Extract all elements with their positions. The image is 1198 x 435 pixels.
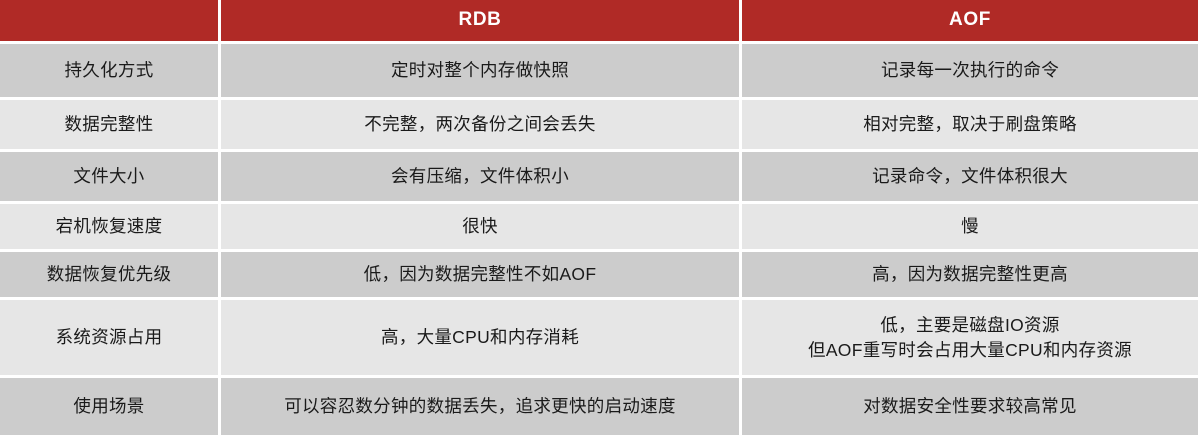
row-rdb-value: 低，因为数据完整性不如AOF (221, 252, 742, 297)
row-feature-label: 系统资源占用 (0, 300, 221, 375)
row-feature-label: 数据完整性 (0, 100, 221, 149)
rdb-aof-comparison-table: RDB AOF 持久化方式 定时对整个内存做快照 记录每一次执行的命令 数据完整… (0, 0, 1198, 435)
table-row: 使用场景 可以容忍数分钟的数据丢失，追求更快的启动速度 对数据安全性要求较高常见 (0, 378, 1198, 435)
row-aof-value: 相对完整，取决于刷盘策略 (742, 100, 1198, 149)
row-rdb-value: 可以容忍数分钟的数据丢失，追求更快的启动速度 (221, 378, 742, 435)
row-aof-value-line-2: 但AOF重写时会占用大量CPU和内存资源 (808, 338, 1132, 363)
row-rdb-value: 高，大量CPU和内存消耗 (221, 300, 742, 375)
row-aof-value-line-1: 低，主要是磁盘IO资源 (880, 313, 1059, 338)
header-cell-aof: AOF (742, 0, 1198, 41)
table-row: 持久化方式 定时对整个内存做快照 记录每一次执行的命令 (0, 44, 1198, 100)
row-rdb-value: 定时对整个内存做快照 (221, 44, 742, 97)
table-row: 宕机恢复速度 很快 慢 (0, 204, 1198, 252)
table-row: 文件大小 会有压缩，文件体积小 记录命令，文件体积很大 (0, 152, 1198, 204)
header-cell-rdb: RDB (221, 0, 742, 41)
row-rdb-value: 会有压缩，文件体积小 (221, 152, 742, 201)
table-row: 数据恢复优先级 低，因为数据完整性不如AOF 高，因为数据完整性更高 (0, 252, 1198, 300)
row-aof-value: 低，主要是磁盘IO资源 但AOF重写时会占用大量CPU和内存资源 (742, 300, 1198, 375)
row-feature-label: 使用场景 (0, 378, 221, 435)
row-feature-label: 数据恢复优先级 (0, 252, 221, 297)
row-aof-value: 记录命令，文件体积很大 (742, 152, 1198, 201)
row-aof-value: 高，因为数据完整性更高 (742, 252, 1198, 297)
table-row: 数据完整性 不完整，两次备份之间会丢失 相对完整，取决于刷盘策略 (0, 100, 1198, 152)
row-rdb-value: 很快 (221, 204, 742, 249)
row-feature-label: 持久化方式 (0, 44, 221, 97)
row-rdb-value: 不完整，两次备份之间会丢失 (221, 100, 742, 149)
table-header-row: RDB AOF (0, 0, 1198, 44)
row-aof-value: 慢 (742, 204, 1198, 249)
header-cell-feature (0, 0, 221, 41)
row-aof-value: 对数据安全性要求较高常见 (742, 378, 1198, 435)
row-aof-value: 记录每一次执行的命令 (742, 44, 1198, 97)
row-feature-label: 文件大小 (0, 152, 221, 201)
row-feature-label: 宕机恢复速度 (0, 204, 221, 249)
table-row: 系统资源占用 高，大量CPU和内存消耗 低，主要是磁盘IO资源 但AOF重写时会… (0, 300, 1198, 378)
